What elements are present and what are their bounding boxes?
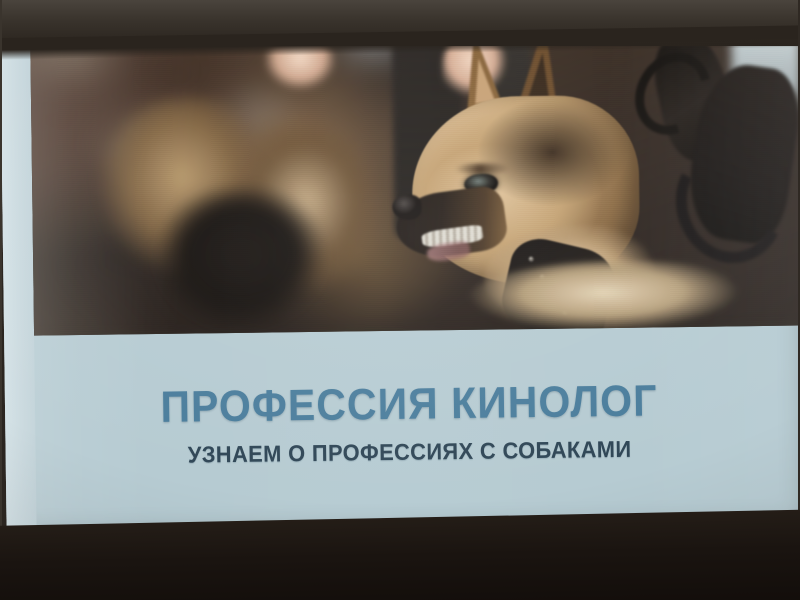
surround-left-band [0,0,2,600]
blurred-dark-coat [155,186,326,334]
slide-title: ПРОФЕССИЯ КИНОЛОГ [61,378,757,431]
slide-subtitle: УЗНАЕМ О ПРОФЕССИЯХ С СОБАКАМИ [54,436,765,468]
slide-caption: ПРОФЕССИЯ КИНОЛОГ УЗНАЕМ О ПРОФЕССИЯХ С … [34,326,800,536]
surround-bottom-band [0,509,800,600]
dog-nose [392,195,422,220]
dog-brow [455,164,510,174]
slide-photo [30,23,800,336]
presentation-slide: ПРОФЕССИЯ КИНОЛОГ УЗНАЕМ О ПРОФЕССИЯХ С … [0,14,800,536]
surround-top-band [0,0,800,46]
photo-content [30,23,800,336]
slide-photograph-scene: ПРОФЕССИЯ КИНОЛОГ УЗНАЕМ О ПРОФЕССИЯХ С … [0,0,800,600]
collar-stud [528,256,534,262]
